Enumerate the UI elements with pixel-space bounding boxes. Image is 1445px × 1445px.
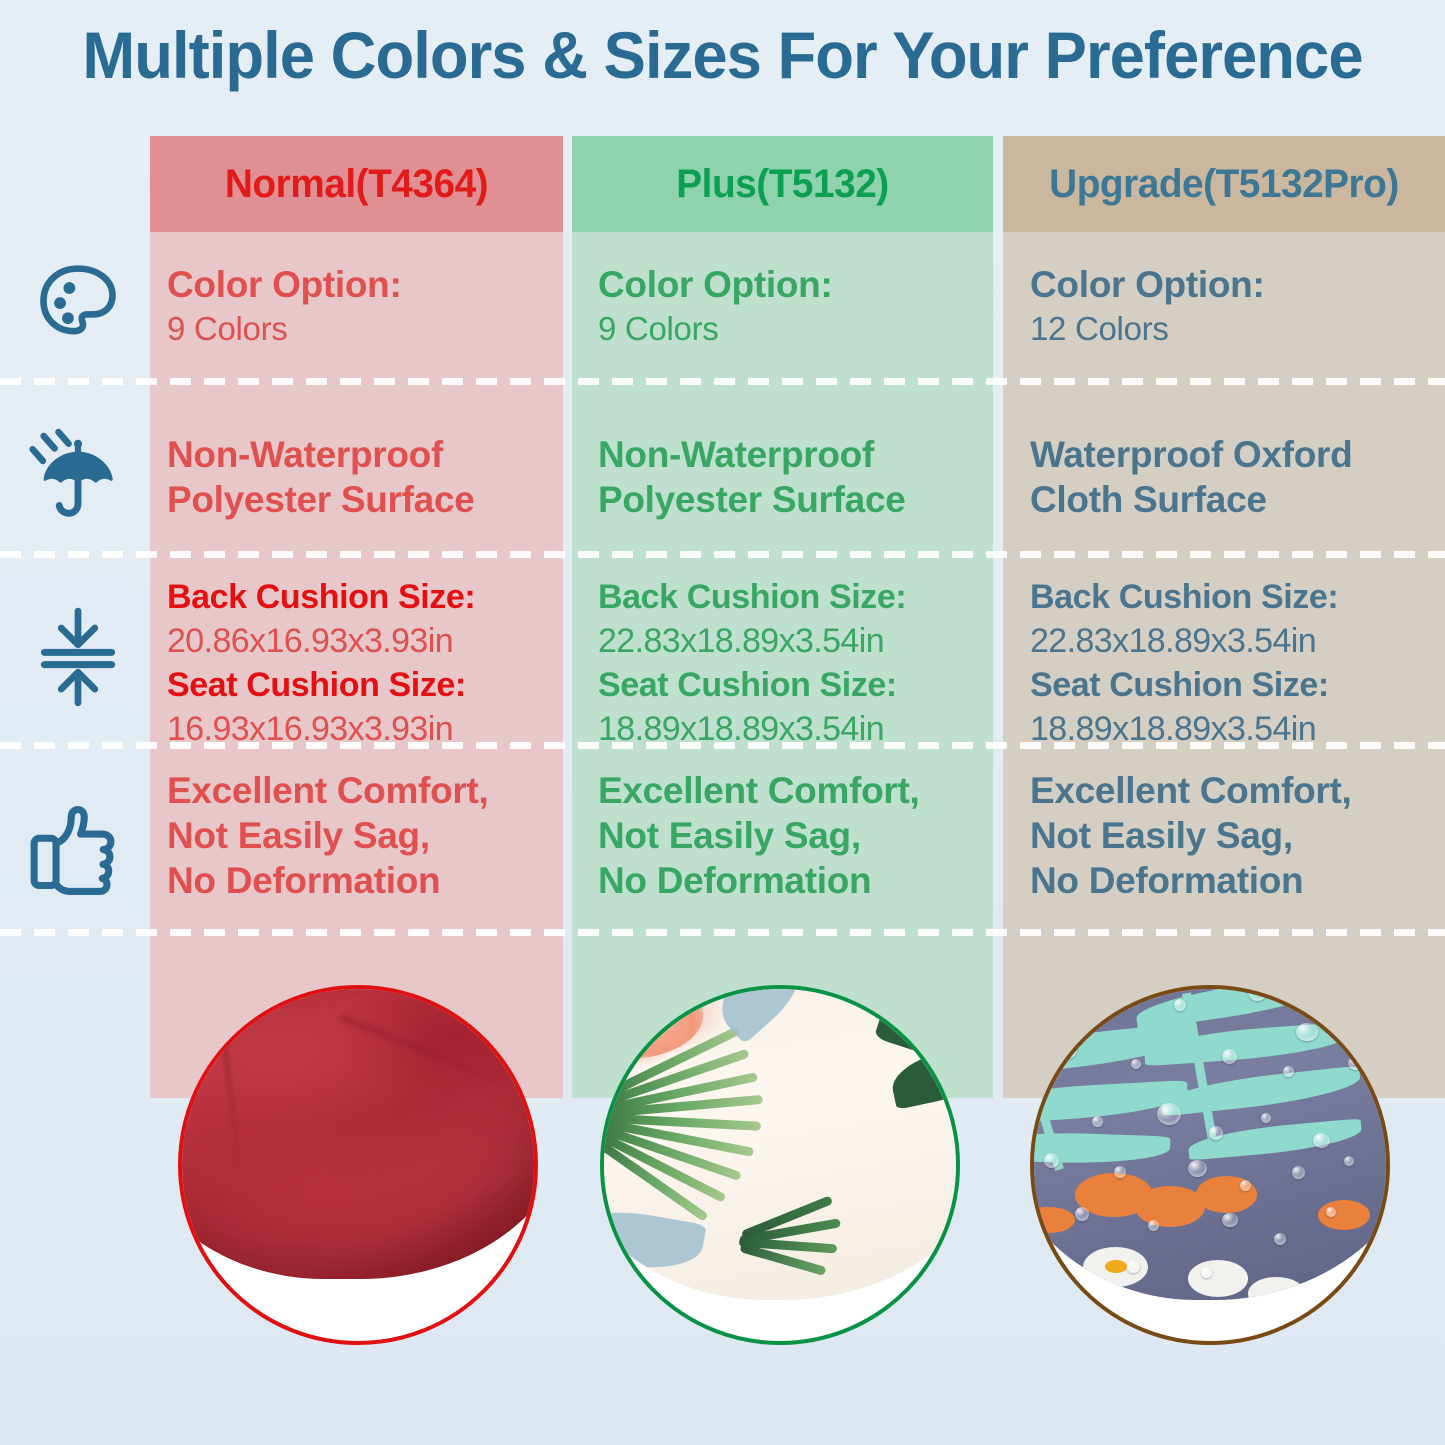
- comfort-line1-plus: Excellent Comfort,: [598, 768, 998, 813]
- comparison-infographic: Multiple Colors & Sizes For Your Prefere…: [0, 0, 1445, 1445]
- column-header-label-plus: Plus(T5132): [578, 136, 986, 232]
- cell-comfort-upgrade: Excellent Comfort, Not Easily Sag, No De…: [1030, 768, 1440, 903]
- umbrella-rain-icon: [18, 414, 138, 536]
- material-line2-normal: Polyester Surface: [167, 477, 562, 522]
- photo-content-normal: [180, 987, 536, 1343]
- column-header-label-upgrade: Upgrade(T5132Pro): [1010, 136, 1439, 232]
- back-cushion-value-plus: 22.83x18.89x3.54in: [598, 619, 998, 663]
- cell-material-upgrade: Waterproof Oxford Cloth Surface: [1030, 432, 1440, 522]
- seat-cushion-label-normal: Seat Cushion Size:: [167, 663, 567, 707]
- color-option-label-upgrade: Color Option:: [1030, 262, 1430, 307]
- back-cushion-label-upgrade: Back Cushion Size:: [1030, 575, 1440, 619]
- cell-color-option-plus: Color Option: 9 Colors: [598, 262, 988, 350]
- page-title: Multiple Colors & Sizes For Your Prefere…: [29, 18, 1416, 92]
- comfort-line3-normal: No Deformation: [167, 858, 567, 903]
- material-line1-normal: Non-Waterproof: [167, 432, 562, 477]
- row-separator-2: [0, 551, 1445, 558]
- comfort-line3-plus: No Deformation: [598, 858, 998, 903]
- cell-color-option-normal: Color Option: 9 Colors: [167, 262, 557, 350]
- cell-color-option-upgrade: Color Option: 12 Colors: [1030, 262, 1430, 350]
- column-header-normal: Normal(T4364): [150, 136, 563, 232]
- back-cushion-value-upgrade: 22.83x18.89x3.54in: [1030, 619, 1440, 663]
- back-cushion-value-normal: 20.86x16.93x3.93in: [167, 619, 567, 663]
- color-option-value-normal: 9 Colors: [167, 307, 557, 350]
- color-option-value-plus: 9 Colors: [598, 307, 988, 350]
- cell-comfort-plus: Excellent Comfort, Not Easily Sag, No De…: [598, 768, 998, 903]
- comfort-line1-upgrade: Excellent Comfort,: [1030, 768, 1440, 813]
- photo-content-plus: [602, 987, 958, 1343]
- product-photo-normal: [178, 985, 538, 1345]
- red-cushion-image: [178, 985, 538, 1279]
- seat-cushion-value-upgrade: 18.89x18.89x3.54in: [1030, 707, 1440, 751]
- photo-content-upgrade: [1032, 987, 1388, 1343]
- comfort-line2-normal: Not Easily Sag,: [167, 813, 567, 858]
- seat-cushion-value-normal: 16.93x16.93x3.93in: [167, 707, 567, 751]
- cell-sizes-upgrade: Back Cushion Size: 22.83x18.89x3.54in Se…: [1030, 575, 1440, 751]
- comfort-line1-normal: Excellent Comfort,: [167, 768, 567, 813]
- material-line2-upgrade: Cloth Surface: [1030, 477, 1440, 522]
- material-line2-plus: Polyester Surface: [598, 477, 993, 522]
- row-separator-1: [0, 378, 1445, 385]
- color-option-label-normal: Color Option:: [167, 262, 557, 307]
- back-cushion-label-plus: Back Cushion Size:: [598, 575, 998, 619]
- cell-sizes-plus: Back Cushion Size: 22.83x18.89x3.54in Se…: [598, 575, 998, 751]
- seat-cushion-label-plus: Seat Cushion Size:: [598, 663, 998, 707]
- material-line1-plus: Non-Waterproof: [598, 432, 993, 477]
- tropical-cushion-image: [600, 985, 960, 1300]
- product-photo-upgrade: [1030, 985, 1390, 1345]
- comfort-line2-upgrade: Not Easily Sag,: [1030, 813, 1440, 858]
- color-palette-icon: [18, 248, 138, 364]
- color-option-value-upgrade: 12 Colors: [1030, 307, 1430, 350]
- column-header-label-normal: Normal(T4364): [156, 136, 557, 232]
- cell-material-plus: Non-Waterproof Polyester Surface: [598, 432, 993, 522]
- column-header-plus: Plus(T5132): [572, 136, 993, 232]
- seat-cushion-value-plus: 18.89x18.89x3.54in: [598, 707, 998, 751]
- material-line1-upgrade: Waterproof Oxford: [1030, 432, 1440, 477]
- cell-sizes-normal: Back Cushion Size: 20.86x16.93x3.93in Se…: [167, 575, 567, 751]
- product-photo-plus: [600, 985, 960, 1345]
- thumbs-up-icon: [18, 780, 138, 910]
- row-separator-4: [0, 929, 1445, 936]
- back-cushion-label-normal: Back Cushion Size:: [167, 575, 567, 619]
- column-header-upgrade: Upgrade(T5132Pro): [1003, 136, 1445, 232]
- cell-comfort-normal: Excellent Comfort, Not Easily Sag, No De…: [167, 768, 567, 903]
- color-option-label-plus: Color Option:: [598, 262, 988, 307]
- waterproof-cushion-image: [1030, 985, 1390, 1300]
- seat-cushion-label-upgrade: Seat Cushion Size:: [1030, 663, 1440, 707]
- comfort-line2-plus: Not Easily Sag,: [598, 813, 998, 858]
- thickness-arrows-icon: [18, 582, 138, 732]
- comfort-line3-upgrade: No Deformation: [1030, 858, 1440, 903]
- cell-material-normal: Non-Waterproof Polyester Surface: [167, 432, 562, 522]
